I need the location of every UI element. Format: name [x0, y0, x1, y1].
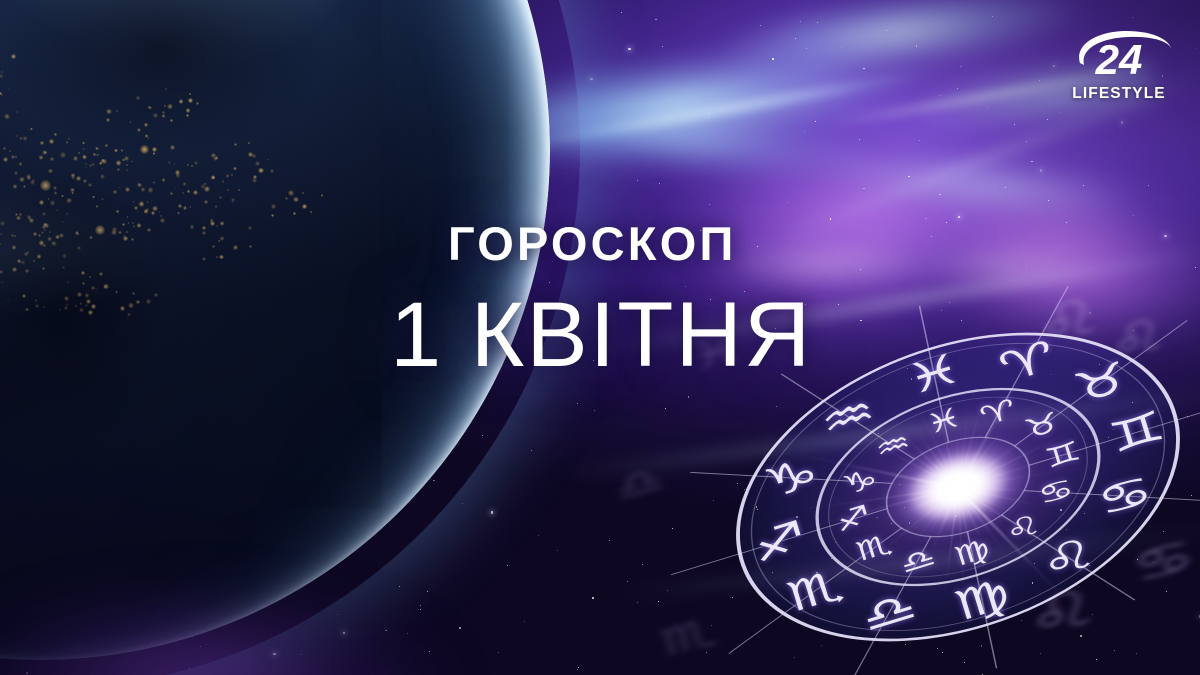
bottom-violet-glow — [0, 515, 620, 675]
brand-logo-24-lifestyle[interactable]: 24 LIFESTYLE — [1060, 27, 1178, 111]
horoscope-banner: ♌ ♌ ♌ ♋ ♓ ♎ ♏ — [0, 0, 1200, 675]
title-block: ГОРОСКОП 1 КВІТНЯ — [448, 220, 812, 381]
logo-number: 24 — [1095, 36, 1143, 83]
logo-wordmark: LIFESTYLE — [1060, 86, 1178, 102]
banner-kicker: ГОРОСКОП — [448, 220, 812, 267]
logo-24-mark: 24 — [1060, 27, 1178, 87]
banner-date: 1 КВІТНЯ — [390, 289, 812, 381]
